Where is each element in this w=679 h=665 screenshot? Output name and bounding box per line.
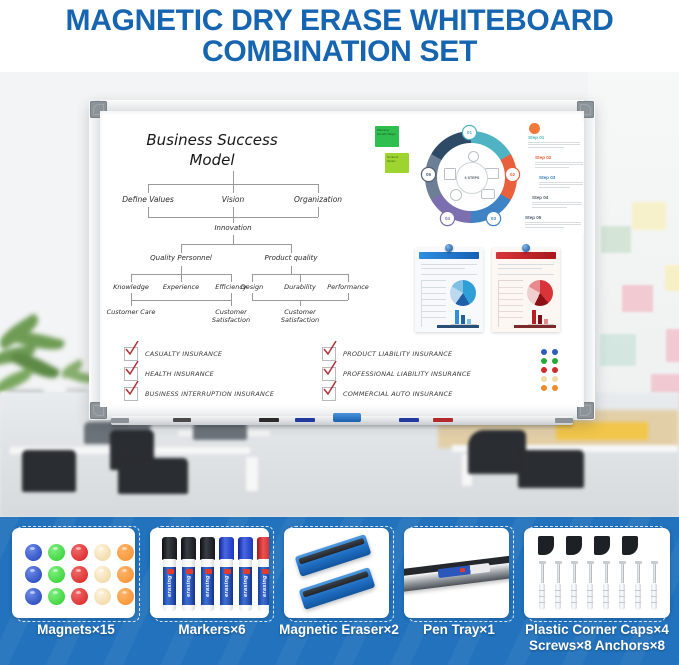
- accessory-cell-eraser: [284, 526, 394, 618]
- checklist-label: COMMERCIAL AUTO INSURANCE: [343, 390, 453, 398]
- node-experience: Experience: [163, 283, 199, 291]
- checklist-item[interactable]: CASUALTY INSURANCE: [124, 347, 222, 361]
- marker-cap: [162, 537, 177, 560]
- brand-dot-icon: [262, 569, 269, 574]
- frame-top: [89, 100, 595, 111]
- node-customer-care: Customer Care: [101, 308, 161, 316]
- sheet-pie-chart: [450, 280, 476, 306]
- sheet-bar-chart: [451, 308, 477, 325]
- plastic-corner-cap: [622, 536, 638, 555]
- wall-sticky-note: [600, 334, 636, 366]
- connector: [131, 274, 132, 282]
- step-badge-05: 05: [422, 168, 435, 181]
- frame-right: [584, 100, 595, 420]
- whiteboard[interactable]: Business Success Model Define Values Vis…: [89, 100, 595, 420]
- marker-label: erasing: [163, 567, 176, 605]
- connector: [348, 293, 349, 300]
- checkbox-icon[interactable]: [124, 367, 138, 381]
- marker-label-text: erasing: [262, 575, 268, 597]
- checklist-label: HEALTH INSURANCE: [145, 370, 214, 378]
- connector: [231, 274, 232, 282]
- pie-icon: [450, 189, 462, 201]
- magnet-orange: [117, 588, 134, 605]
- marker-label: erasing: [220, 567, 233, 605]
- screw: [573, 561, 576, 583]
- legend-step-05: Step 05: [525, 215, 581, 228]
- caption-pen-tray: Pen Tray×1: [404, 622, 514, 638]
- plastic-corner-cap: [566, 536, 582, 555]
- magnet-green: [48, 544, 65, 561]
- accessory-cell-magnets: [12, 526, 140, 618]
- magnet-cream: [94, 544, 111, 561]
- hardware-card: [524, 528, 670, 618]
- diagram-title-line-1: Business Success: [100, 131, 454, 149]
- desk: [246, 457, 258, 491]
- magnet-cream: [94, 588, 111, 605]
- node-product-quality: Product quality: [264, 254, 317, 262]
- node-performance: Performance: [327, 283, 369, 291]
- accessory-cell-hardware: [524, 526, 670, 618]
- legend-step-04: Step 04: [532, 195, 582, 208]
- chair: [22, 450, 76, 492]
- legend-label: Step 05: [525, 215, 581, 220]
- chair: [518, 450, 584, 488]
- caption-eraser: Magnetic Eraser×2: [270, 622, 408, 638]
- marker-cap: [200, 537, 215, 560]
- connector: [300, 300, 301, 306]
- wall-anchor: [619, 584, 625, 610]
- connector: [231, 293, 232, 300]
- checkbox-icon[interactable]: [322, 367, 336, 381]
- checkbox-icon[interactable]: [124, 387, 138, 401]
- connector: [233, 184, 234, 193]
- product-title: MAGNETIC DRY ERASE WHITEBOARD COMBINATIO…: [0, 0, 679, 72]
- connector: [181, 274, 182, 282]
- connector: [318, 184, 319, 193]
- legend-step-02: Step 02: [535, 155, 583, 168]
- node-customer-satisfaction-right: Customer Satisfaction: [268, 308, 332, 324]
- connector: [252, 293, 253, 300]
- marker-black: erasing: [162, 537, 177, 613]
- legend-step-03: Step 03: [539, 175, 583, 188]
- title-line-1: MAGNETIC DRY ERASE WHITEBOARD: [66, 5, 614, 36]
- board-magnet[interactable]: [541, 376, 547, 382]
- check-icon: [322, 381, 337, 396]
- whiteboard-surface[interactable]: Business Success Model Define Values Vis…: [100, 111, 584, 407]
- plastic-corner-cap: [594, 536, 610, 555]
- marker-black: erasing: [200, 537, 215, 613]
- magnet-red: [71, 566, 88, 583]
- board-magnet[interactable]: [541, 349, 547, 355]
- marker-label-text: erasing: [167, 575, 173, 597]
- node-customer-satisfaction-left: Customer Satisfaction: [199, 308, 263, 324]
- node-vision: Vision: [222, 195, 245, 204]
- tray-marker[interactable]: [173, 418, 191, 422]
- connector: [291, 244, 292, 253]
- marker-blue: erasing: [238, 537, 253, 613]
- legend-label: Step 02: [535, 155, 583, 160]
- node-quality-personnel: Quality Personnel: [150, 254, 212, 262]
- product-image: MAGNETIC DRY ERASE WHITEBOARD COMBINATIO…: [0, 0, 679, 665]
- check-icon: [322, 341, 337, 356]
- check-icon: [322, 361, 337, 376]
- tray-end-cap: [555, 418, 573, 423]
- marker-label-text: erasing: [243, 575, 249, 597]
- checklist-item[interactable]: PRODUCT LIABILITY INSURANCE: [322, 347, 452, 361]
- marker-blue: erasing: [219, 537, 234, 613]
- markers-card: erasing erasing erasing erasing: [150, 528, 269, 618]
- step-badge-04: 04: [441, 212, 454, 225]
- wall-anchor: [555, 584, 561, 610]
- connector: [131, 300, 132, 306]
- checklist-label: CASUALTY INSURANCE: [145, 350, 222, 358]
- connector: [148, 207, 149, 217]
- board-magnet[interactable]: [541, 358, 547, 364]
- orange-dot-icon: [529, 123, 540, 134]
- screw: [653, 561, 656, 583]
- connector: [291, 266, 292, 274]
- caption-hardware: Plastic Corner Caps×4 Screws×8 Anchors×8: [518, 622, 676, 654]
- screw: [541, 561, 544, 583]
- connector: [181, 266, 182, 274]
- wall-sticky-note: [632, 202, 666, 230]
- node-innovation: Innovation: [214, 224, 251, 232]
- connector: [181, 244, 182, 253]
- screw: [637, 561, 640, 583]
- checklist-label: BUSINESS INTERRUPTION INSURANCE: [145, 390, 274, 398]
- eraser-felt: [298, 538, 365, 565]
- wall-anchor: [651, 584, 657, 610]
- step-badge-02: 02: [506, 168, 519, 181]
- board-sticky-note-1: Planning Growth Target: [375, 126, 399, 147]
- magnet-red: [71, 544, 88, 561]
- marker-label: erasing: [239, 567, 252, 605]
- checkbox-icon[interactable]: [124, 347, 138, 361]
- connector: [318, 207, 319, 217]
- brand-dot-icon: [460, 568, 465, 573]
- connector: [231, 300, 232, 306]
- check-icon: [124, 341, 139, 356]
- marker-label: erasing: [182, 567, 195, 605]
- magnet-blue: [25, 588, 42, 605]
- board-magnet[interactable]: [552, 385, 558, 391]
- magnet-pin: [445, 244, 453, 252]
- tray-marker[interactable]: [433, 418, 453, 422]
- sheet-table: [498, 280, 523, 327]
- screw: [589, 561, 592, 583]
- tray-marker[interactable]: [295, 418, 315, 422]
- caption-magnets: Magnets×15: [12, 622, 140, 638]
- checklist-item[interactable]: PROFESSIONAL LIABILITY INSURANCE: [322, 367, 471, 381]
- frame-left: [89, 100, 100, 420]
- magnet-orange: [117, 544, 134, 561]
- legend-label: Step 04: [532, 195, 582, 200]
- wall-anchor: [539, 584, 545, 610]
- tray-marker[interactable]: [399, 418, 419, 422]
- wall-sticky-note: [666, 329, 679, 362]
- checkbox-icon[interactable]: [322, 347, 336, 361]
- sheet-table: [421, 280, 446, 327]
- screw: [557, 561, 560, 583]
- brand-dot-icon: [205, 569, 212, 574]
- caption-hardware-line-1: Plastic Corner Caps×4: [518, 622, 676, 638]
- plastic-corner-cap: [538, 536, 554, 555]
- legend-label: Step 01: [528, 135, 580, 140]
- caption-hardware-line-2: Screws×8 Anchors×8: [518, 638, 676, 654]
- magnet-cream: [94, 566, 111, 583]
- board-sticky-note-2: Connect Option: [385, 153, 409, 173]
- brand-dot-icon: [243, 569, 250, 574]
- checklist-item[interactable]: BUSINESS INTERRUPTION INSURANCE: [124, 387, 274, 401]
- accessory-cell-markers: erasing erasing erasing erasing: [150, 526, 274, 618]
- node-knowledge: Knowledge: [113, 283, 149, 291]
- checkbox-icon[interactable]: [322, 387, 336, 401]
- sheet-header-bar: [496, 252, 556, 259]
- sheet-pie-chart: [527, 280, 553, 306]
- marker-label: erasing: [201, 567, 214, 605]
- blue-report-sheet: [415, 248, 483, 332]
- board-magnet[interactable]: [552, 349, 558, 355]
- marker-red: erasing: [257, 537, 269, 613]
- card-icon: [481, 189, 495, 199]
- marker-label-text: erasing: [186, 575, 192, 597]
- center-label: 6 STEPS: [456, 162, 488, 194]
- node-organization: Organization: [294, 195, 342, 204]
- marker-cap: [238, 537, 253, 560]
- wall-sticky-note: [665, 265, 679, 291]
- marker-label: erasing: [258, 567, 269, 605]
- tray-marker[interactable]: [259, 418, 279, 422]
- wall-anchor: [635, 584, 641, 610]
- wall-anchor: [603, 584, 609, 610]
- board-magnet-group[interactable]: [541, 349, 561, 385]
- tray-eraser[interactable]: [333, 413, 361, 422]
- sheet-bar-chart: [528, 308, 554, 325]
- magnets-card: [12, 528, 135, 618]
- board-magnet[interactable]: [541, 367, 547, 373]
- connector: [233, 207, 234, 223]
- brand-dot-icon: [224, 569, 231, 574]
- sheet-header-bar: [419, 252, 479, 259]
- magnet-green: [48, 588, 65, 605]
- checklist-item[interactable]: HEALTH INSURANCE: [124, 367, 214, 381]
- connector: [148, 184, 149, 193]
- connector: [131, 300, 231, 301]
- wall-sticky-note: [601, 226, 631, 253]
- check-icon: [124, 361, 139, 376]
- checklist-label: PRODUCT LIABILITY INSURANCE: [343, 350, 452, 358]
- marker-cap: [181, 537, 196, 560]
- tray-end-cap: [111, 418, 129, 423]
- magnet-pin: [522, 244, 530, 252]
- connector: [131, 293, 132, 300]
- magnet-blue: [25, 566, 42, 583]
- title-line-2: COMBINATION SET: [202, 36, 477, 67]
- eraser-felt: [302, 571, 369, 598]
- magnifier-icon: [468, 151, 479, 162]
- node-durability: Durability: [284, 283, 316, 291]
- magnet-blue: [25, 544, 42, 561]
- wall-anchor: [587, 584, 593, 610]
- legend-label: Step 03: [539, 175, 583, 180]
- pen-tray-card: [404, 528, 509, 618]
- wall-anchor: [571, 584, 577, 610]
- checklist-label: PROFESSIONAL LIABILITY INSURANCE: [343, 370, 471, 378]
- accessory-cell-pen-tray: [404, 526, 514, 618]
- connector: [300, 274, 301, 282]
- check-icon: [124, 381, 139, 396]
- connector: [348, 274, 349, 282]
- brand-dot-icon: [167, 569, 174, 574]
- board-magnet[interactable]: [552, 358, 558, 364]
- board-magnet[interactable]: [552, 376, 558, 382]
- marker-cap: [219, 537, 234, 560]
- calculator-icon: [444, 168, 456, 180]
- accessory-strip: Magnets×15 erasing erasing erasing: [0, 517, 679, 665]
- magnet-red: [71, 588, 88, 605]
- board-magnet[interactable]: [541, 385, 547, 391]
- node-design: Design: [241, 283, 263, 291]
- connector: [252, 274, 253, 282]
- red-report-sheet: [492, 248, 560, 332]
- marker-cap: [257, 537, 269, 560]
- magnet-orange: [117, 566, 134, 583]
- connector: [181, 244, 291, 245]
- brand-dot-icon: [186, 569, 193, 574]
- node-define-values: Define Values: [122, 195, 174, 204]
- legend-step-01: Step 01: [528, 135, 580, 148]
- board-pen-tray[interactable]: [111, 416, 573, 425]
- screw: [605, 561, 608, 583]
- magnet-green: [48, 566, 65, 583]
- connector: [233, 171, 234, 184]
- marker-label-text: erasing: [205, 575, 211, 597]
- checklist-item[interactable]: COMMERCIAL AUTO INSURANCE: [322, 387, 453, 401]
- eraser-card: [284, 528, 389, 618]
- screw: [621, 561, 624, 583]
- six-step-infographic: 6 STEPS 01 02 03 04 05 06 Step 01 Step 0…: [411, 121, 584, 233]
- caption-markers: Markers×6: [150, 622, 274, 638]
- step-badge-03: 03: [487, 212, 500, 225]
- board-magnet[interactable]: [552, 367, 558, 373]
- chair: [118, 458, 188, 494]
- marker-black: erasing: [181, 537, 196, 613]
- marker-label-text: erasing: [224, 575, 230, 597]
- wall-sticky-note: [622, 285, 653, 312]
- connector: [233, 235, 234, 244]
